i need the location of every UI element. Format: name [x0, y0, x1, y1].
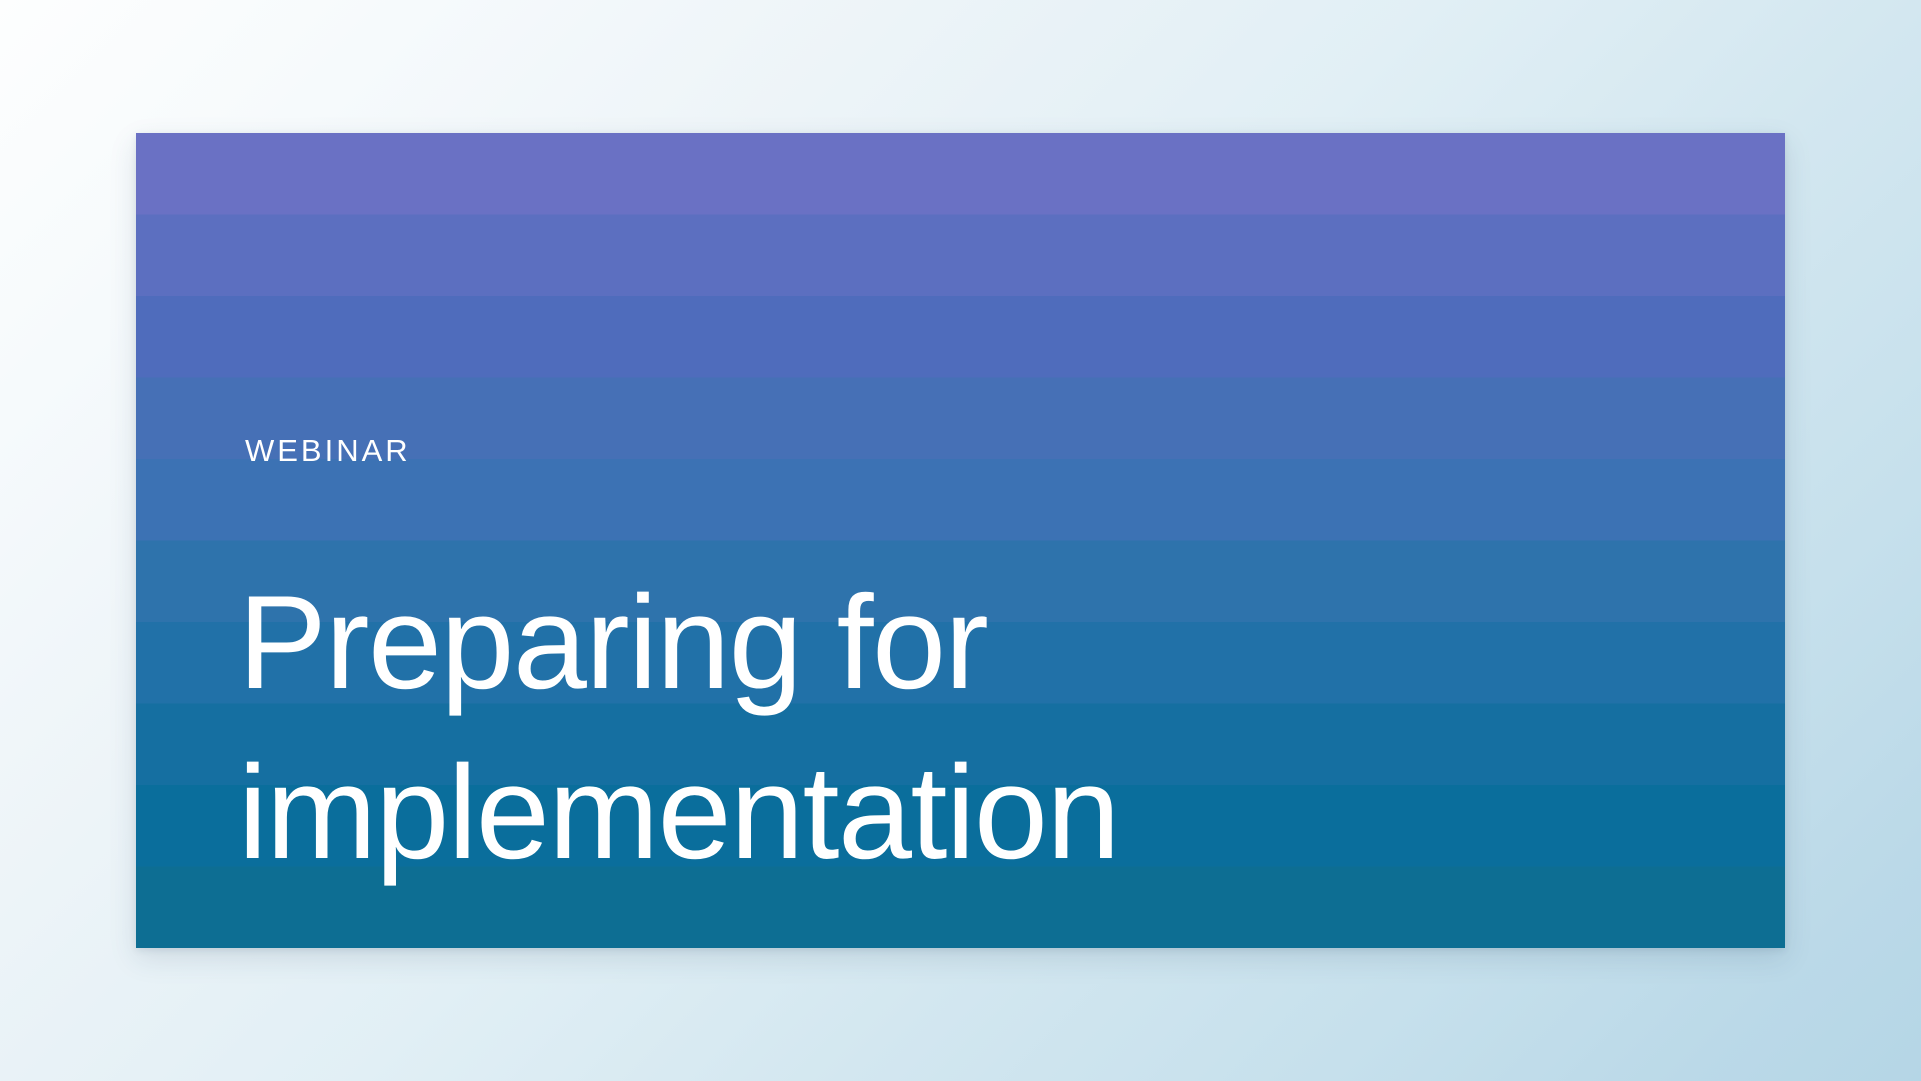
headline-line-2: implementation [238, 728, 1119, 898]
webinar-title-card: WEBINAR Preparing for implementation [136, 133, 1785, 948]
card-content: WEBINAR Preparing for implementation [245, 133, 1725, 948]
eyebrow-label: WEBINAR [245, 435, 411, 466]
headline-line-1: Preparing for [238, 558, 1119, 728]
slide-stage: WEBINAR Preparing for implementation [0, 0, 1921, 1081]
page-title: Preparing for implementation [238, 558, 1119, 898]
